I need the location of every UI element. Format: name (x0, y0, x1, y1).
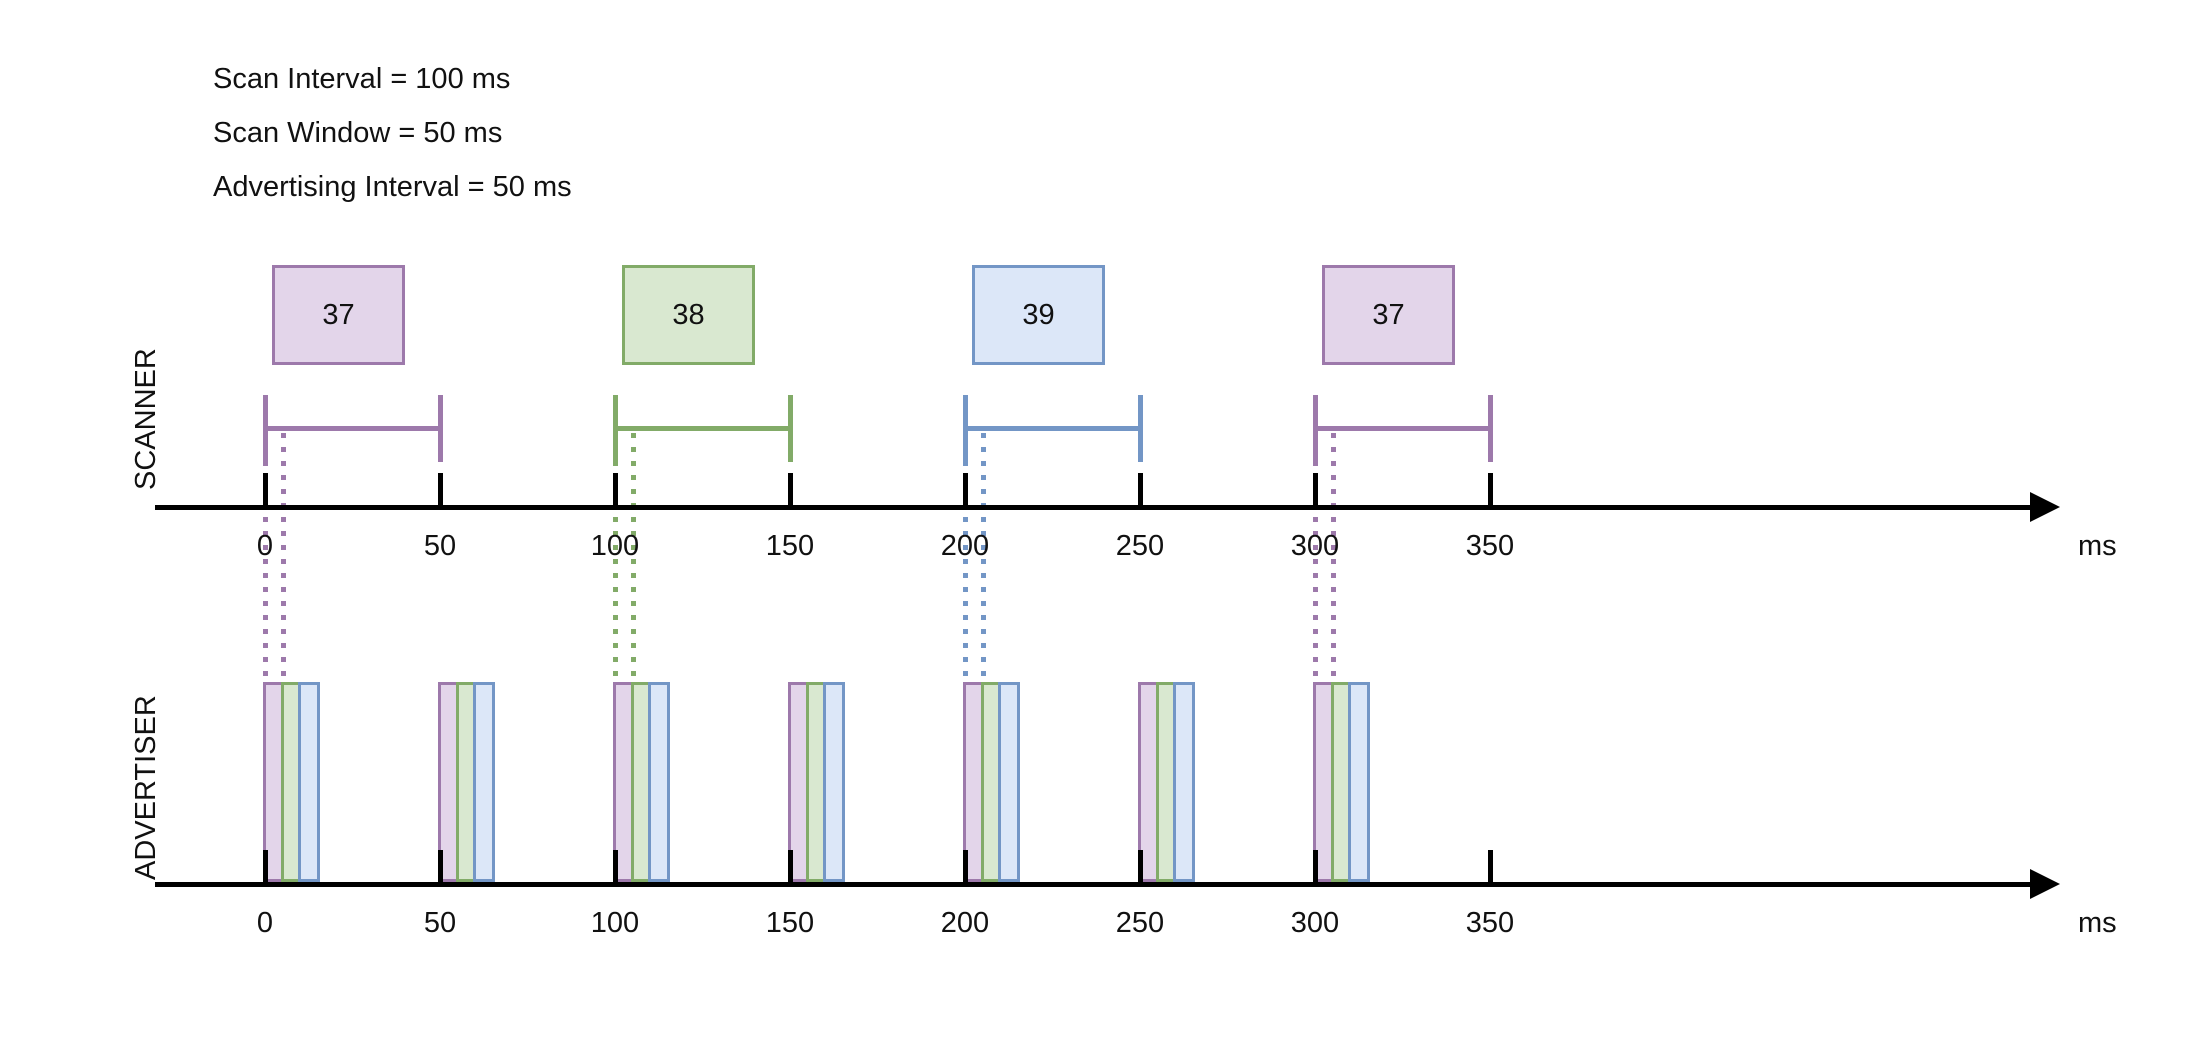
advertiser-tick-0 (263, 850, 268, 887)
advertiser-tick-label-300: 300 (1265, 907, 1365, 940)
scanner-tick-200 (963, 473, 968, 510)
parameter-legend: Scan Interval = 100 ms Scan Window = 50 … (213, 52, 572, 214)
scanner-tick-100 (613, 473, 618, 510)
param-scan-window: Scan Window = 50 ms (213, 106, 572, 160)
scanner-tick-label-0: 0 (215, 530, 315, 563)
advertiser-tick-label-50: 50 (390, 907, 490, 940)
scan-window-bracket-2 (963, 395, 1143, 462)
scanner-tick-label-250: 250 (1090, 530, 1190, 563)
scan-window-bracket-1 (613, 395, 793, 462)
scanner-tick-label-200: 200 (915, 530, 1015, 563)
scan-window-bracket-3 (1313, 395, 1493, 462)
advertiser-pulse-250-ch39 (1173, 682, 1195, 882)
scanner-axis-unit-label: ms (2078, 530, 2117, 563)
advertiser-tick-100 (613, 850, 618, 887)
timing-diagram-canvas: Scan Interval = 100 ms Scan Window = 50 … (0, 0, 2190, 1050)
advertiser-pulse-150-ch39 (823, 682, 845, 882)
bracket-cap-right (1138, 395, 1143, 462)
scanner-channel-label: 39 (1022, 299, 1054, 332)
scanner-tick-150 (788, 473, 793, 510)
advertiser-tick-300 (1313, 850, 1318, 887)
advertiser-pulse-300-ch39 (1348, 682, 1370, 882)
advertiser-tick-label-150: 150 (740, 907, 840, 940)
bracket-span-bar (963, 426, 1143, 431)
advertiser-tick-label-100: 100 (565, 907, 665, 940)
bracket-span-bar (613, 426, 793, 431)
advertiser-tick-label-200: 200 (915, 907, 1015, 940)
scanner-channel-label: 37 (322, 299, 354, 332)
scanner-tick-label-50: 50 (390, 530, 490, 563)
scanner-channel-box-37-0: 37 (272, 265, 405, 365)
row-label-scanner: SCANNER (130, 348, 163, 490)
scan-window-bracket-0 (263, 395, 443, 462)
scanner-tick-label-350: 350 (1440, 530, 1540, 563)
advertiser-pulse-50-ch39 (473, 682, 495, 882)
advertiser-axis-unit-label: ms (2078, 907, 2117, 940)
scanner-channel-label: 37 (1372, 299, 1404, 332)
scanner-tick-50 (438, 473, 443, 510)
advertiser-axis-line (155, 882, 2030, 887)
scanner-axis-line (155, 505, 2030, 510)
scanner-tick-0 (263, 473, 268, 510)
scanner-axis-arrowhead (2030, 492, 2060, 522)
scanner-tick-250 (1138, 473, 1143, 510)
scanner-channel-box-37-3: 37 (1322, 265, 1455, 365)
scanner-tick-350 (1488, 473, 1493, 510)
param-scan-interval: Scan Interval = 100 ms (213, 52, 572, 106)
scanner-channel-label: 38 (672, 299, 704, 332)
bracket-cap-right (788, 395, 793, 462)
advertiser-tick-350 (1488, 850, 1493, 887)
advertiser-tick-label-350: 350 (1440, 907, 1540, 940)
advertiser-pulse-0-ch39 (298, 682, 320, 882)
bracket-cap-right (438, 395, 443, 462)
scanner-channel-box-39-2: 39 (972, 265, 1105, 365)
advertiser-tick-250 (1138, 850, 1143, 887)
advertiser-pulse-100-ch39 (648, 682, 670, 882)
scanner-tick-300 (1313, 473, 1318, 510)
param-advertising-interval: Advertising Interval = 50 ms (213, 160, 572, 214)
bracket-span-bar (263, 426, 443, 431)
scanner-tick-label-100: 100 (565, 530, 665, 563)
scanner-channel-box-38-1: 38 (622, 265, 755, 365)
bracket-cap-right (1488, 395, 1493, 462)
scanner-tick-label-150: 150 (740, 530, 840, 563)
advertiser-tick-label-250: 250 (1090, 907, 1190, 940)
scanner-tick-label-300: 300 (1265, 530, 1365, 563)
advertiser-pulse-200-ch39 (998, 682, 1020, 882)
advertiser-tick-50 (438, 850, 443, 887)
row-label-advertiser: ADVERTISER (130, 695, 163, 880)
advertiser-tick-label-0: 0 (215, 907, 315, 940)
advertiser-tick-200 (963, 850, 968, 887)
bracket-span-bar (1313, 426, 1493, 431)
advertiser-tick-150 (788, 850, 793, 887)
advertiser-axis-arrowhead (2030, 869, 2060, 899)
